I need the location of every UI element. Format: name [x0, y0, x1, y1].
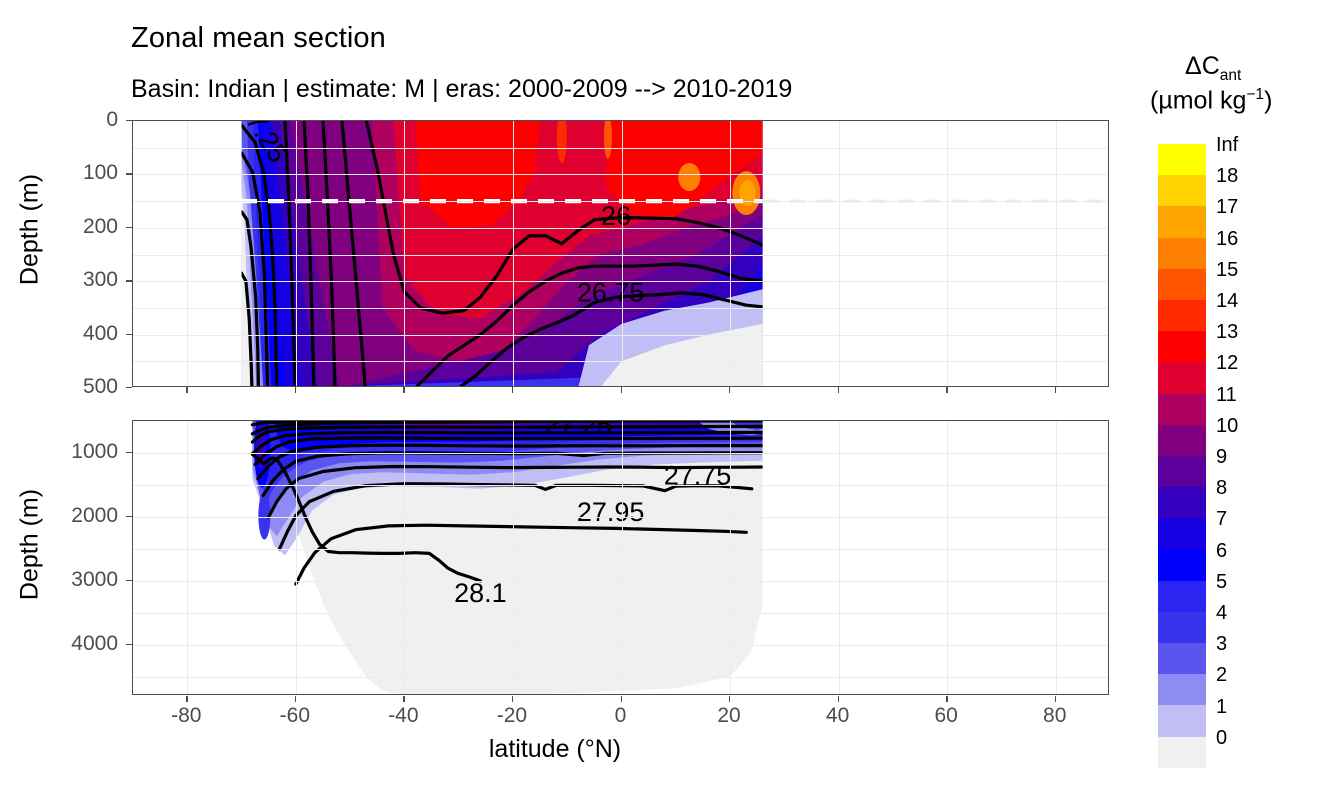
colorbar-cell: [1158, 144, 1206, 175]
colorbar-cell: [1158, 549, 1206, 580]
colorbar-cell: [1158, 269, 1206, 300]
panel-upper: 27.252626.75: [132, 120, 1109, 387]
colorbar-cell: [1158, 643, 1206, 674]
colorbar-cell: [1158, 362, 1206, 393]
gridline-vertical: [296, 121, 297, 386]
legend-title-variable: ΔCant: [1185, 52, 1241, 85]
page-title: Zonal mean section: [131, 22, 386, 55]
colorbar-cell: [1158, 425, 1206, 456]
x-tick-label: 20: [699, 704, 759, 728]
colorbar-label: 14: [1216, 290, 1238, 313]
x-tick-label: 0: [591, 704, 651, 728]
x-tick-label: 60: [916, 704, 976, 728]
colorbar-cell: [1158, 456, 1206, 487]
x-tickmark: [621, 696, 622, 702]
x-tickmark: [838, 387, 839, 393]
gridline-vertical: [1056, 121, 1057, 386]
gridline-vertical: [404, 421, 405, 694]
gridline-horizontal: [133, 485, 1108, 486]
y-tick-label: 100: [48, 161, 118, 185]
y-axis-title-upper: Depth (m): [16, 145, 45, 315]
x-tickmark: [621, 387, 622, 393]
contour-label-2795: 27.95: [577, 497, 645, 527]
gridline-horizontal: [133, 335, 1108, 336]
x-tick-label: 40: [808, 704, 868, 728]
colorbar-cell: [1158, 175, 1206, 206]
contour-label-281: 28.1: [454, 578, 507, 608]
x-tickmark: [295, 696, 296, 702]
contour-label-2725-lower: 27.25: [544, 421, 612, 440]
colorbar-cell: [1158, 705, 1206, 736]
colorbar-label: 5: [1216, 571, 1227, 594]
colorbar-label: 3: [1216, 633, 1227, 656]
gridline-horizontal: [133, 677, 1108, 678]
colorbar-label: 9: [1216, 446, 1227, 469]
gridline-vertical: [730, 121, 731, 386]
colorbar-label: 1: [1216, 696, 1227, 719]
colorbar-label: 10: [1216, 415, 1238, 438]
colorbar-cell: [1158, 300, 1206, 331]
colorbar-label: 2: [1216, 664, 1227, 687]
colorbar[interactable]: [1158, 144, 1206, 768]
x-axis-title: latitude (°N): [0, 735, 1110, 764]
x-tickmark: [946, 696, 947, 702]
colorbar-cell: [1158, 674, 1206, 705]
gridline-vertical: [513, 121, 514, 386]
legend-title-units: (µmol kg−1): [1150, 86, 1272, 115]
x-tickmark: [186, 387, 187, 393]
gridline-horizontal: [133, 549, 1108, 550]
gridline-vertical: [296, 421, 297, 694]
colorbar-cell: [1158, 394, 1206, 425]
gridline-horizontal: [133, 361, 1108, 362]
gridline-vertical: [730, 421, 731, 694]
gridline-horizontal: [133, 453, 1108, 454]
gridline-vertical: [622, 421, 623, 694]
figure-canvas: Zonal mean section Basin: Indian | estim…: [0, 0, 1344, 806]
x-tick-label: -60: [265, 704, 325, 728]
gridline-vertical: [622, 121, 623, 386]
colorbar-cell: [1158, 206, 1206, 237]
plot-subtitle: Basin: Indian | estimate: M | eras: 2000…: [131, 75, 792, 104]
upper-section-plot: 27.252626.75: [133, 121, 1108, 386]
gridline-vertical: [839, 121, 840, 386]
x-tick-label: -80: [156, 704, 216, 728]
colorbar-label: 0: [1216, 727, 1227, 750]
x-tickmark: [729, 387, 730, 393]
colorbar-cell: [1158, 331, 1206, 362]
gridline-vertical: [947, 121, 948, 386]
colorbar-label: 4: [1216, 602, 1227, 625]
gridline-horizontal: [133, 228, 1108, 229]
gridline-horizontal: [133, 645, 1108, 646]
gridline-vertical: [947, 421, 948, 694]
gridline-horizontal: [133, 255, 1108, 256]
contour-label-26: 26: [601, 201, 631, 231]
gridline-vertical: [513, 421, 514, 694]
colorbar-cell: [1158, 612, 1206, 643]
gridline-horizontal: [133, 281, 1108, 282]
colorbar-label: 18: [1216, 165, 1238, 188]
y-tick-label: 2000: [48, 504, 118, 528]
gridline-horizontal: [133, 517, 1108, 518]
x-tickmark: [186, 696, 187, 702]
gridline-horizontal: [133, 174, 1108, 175]
y-tick-label: 1000: [48, 440, 118, 464]
x-tickmark: [295, 387, 296, 393]
gridline-vertical: [187, 421, 188, 694]
colorbar-label: 16: [1216, 228, 1238, 251]
x-tickmark: [1055, 387, 1056, 393]
y-tickmark: [126, 387, 132, 388]
colorbar-label: 8: [1216, 477, 1227, 500]
gridline-horizontal: [133, 581, 1108, 582]
gridline-horizontal: [133, 308, 1108, 309]
gridline-horizontal: [133, 201, 1108, 202]
gridline-vertical: [839, 421, 840, 694]
y-axis-title-lower: Depth (m): [16, 460, 45, 630]
lower-section-plot: 27.2527.7527.9528.1: [133, 421, 1108, 694]
colorbar-label: 12: [1216, 352, 1238, 375]
x-tickmark: [729, 696, 730, 702]
gridline-vertical: [404, 121, 405, 386]
y-tick-label: 3000: [48, 568, 118, 592]
x-tick-label: -40: [373, 704, 433, 728]
colorbar-label: 11: [1216, 384, 1237, 407]
colorbar-label: Inf: [1216, 134, 1238, 157]
y-tick-label: 4000: [48, 632, 118, 656]
colorbar-label: 6: [1216, 540, 1227, 563]
colorbar-label: 7: [1216, 508, 1227, 531]
y-tick-label: 0: [48, 108, 118, 132]
y-tick-label: 500: [48, 375, 118, 399]
gridline-vertical: [1056, 421, 1057, 694]
colorbar-label: 17: [1216, 196, 1238, 219]
gridline-horizontal: [133, 148, 1108, 149]
colorbar-cell: [1158, 581, 1206, 612]
gridline-horizontal: [133, 613, 1108, 614]
x-tick-label: -20: [482, 704, 542, 728]
colorbar-cell: [1158, 238, 1206, 269]
colorbar-cell: [1158, 487, 1206, 518]
colorbar-label: 15: [1216, 259, 1238, 282]
colorbar-cell: [1158, 737, 1206, 768]
x-tickmark: [512, 696, 513, 702]
colorbar-label: 13: [1216, 321, 1238, 344]
x-tickmark: [403, 696, 404, 702]
x-tickmark: [946, 387, 947, 393]
x-tickmark: [403, 387, 404, 393]
x-tickmark: [838, 696, 839, 702]
x-tickmark: [1055, 696, 1056, 702]
gridline-vertical: [187, 121, 188, 386]
y-tick-label: 400: [48, 322, 118, 346]
x-tickmark: [512, 387, 513, 393]
x-tick-label: 80: [1025, 704, 1085, 728]
y-tick-label: 300: [48, 268, 118, 292]
y-tick-label: 200: [48, 215, 118, 239]
colorbar-cell: [1158, 518, 1206, 549]
panel-lower: 27.2527.7527.9528.1: [132, 420, 1109, 695]
